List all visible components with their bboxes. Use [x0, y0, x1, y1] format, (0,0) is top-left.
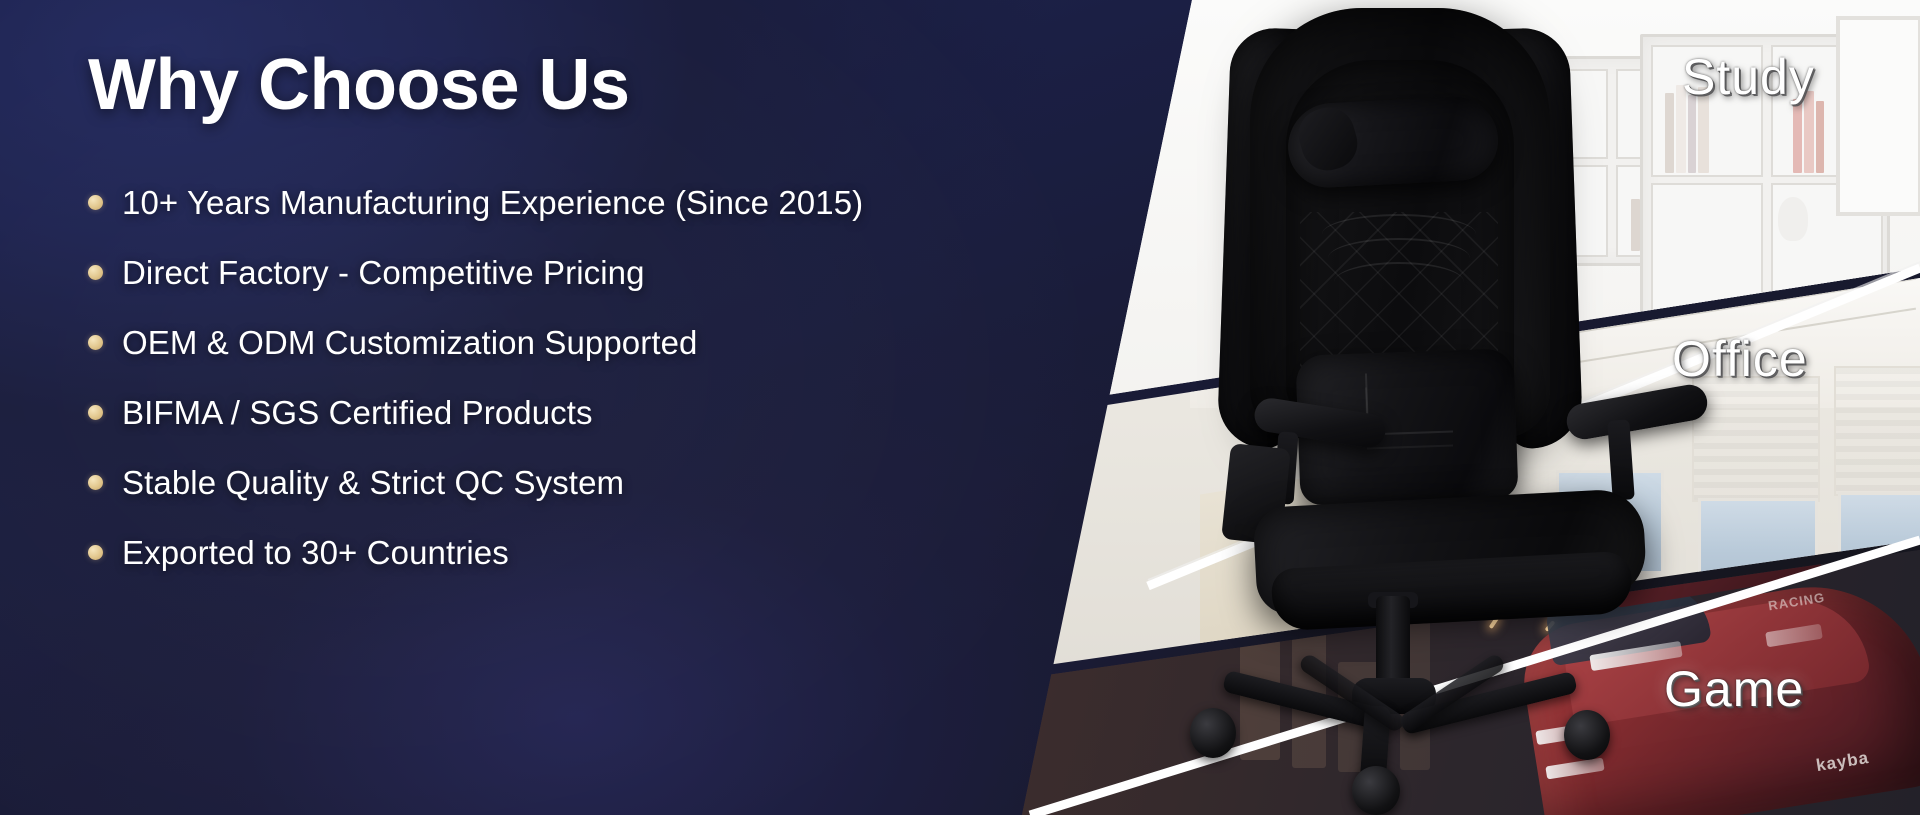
bullet-dot-icon	[88, 335, 103, 350]
chair-gas-lift	[1376, 596, 1410, 688]
scene-label-game: Game	[1664, 660, 1804, 718]
list-item-label: OEM & ODM Customization Supported	[122, 324, 698, 362]
bullet-dot-icon	[88, 405, 103, 420]
bullet-dot-icon	[88, 195, 103, 210]
bullet-dot-icon	[88, 265, 103, 280]
list-item: Direct Factory - Competitive Pricing	[88, 252, 1098, 294]
list-item-label: Exported to 30+ Countries	[122, 534, 509, 572]
page-title: Why Choose Us	[88, 48, 1098, 124]
scene-label-study: Study	[1682, 48, 1815, 106]
list-item-label: 10+ Years Manufacturing Experience (Sinc…	[122, 184, 863, 222]
chair-armrest-post-right	[1607, 419, 1635, 500]
bullet-dot-icon	[88, 475, 103, 490]
chair-caster-wheel	[1352, 766, 1400, 815]
list-item-label: BIFMA / SGS Certified Products	[122, 394, 593, 432]
chair-armrest-right	[1564, 382, 1710, 442]
bullet-dot-icon	[88, 545, 103, 560]
chair-caster-wheel	[1190, 708, 1236, 758]
list-item: Stable Quality & Strict QC System	[88, 462, 1098, 504]
banner-copy: Why Choose Us 10+ Years Manufacturing Ex…	[88, 48, 1098, 602]
list-item-label: Stable Quality & Strict QC System	[122, 464, 624, 502]
scene-label-office: Office	[1672, 330, 1808, 388]
list-item-label: Direct Factory - Competitive Pricing	[122, 254, 645, 292]
list-item: BIFMA / SGS Certified Products	[88, 392, 1098, 434]
chair-caster-wheel	[1564, 710, 1610, 760]
list-item: Exported to 30+ Countries	[88, 532, 1098, 574]
benefits-list: 10+ Years Manufacturing Experience (Sinc…	[88, 182, 1098, 574]
why-choose-us-banner: kayba RACING	[0, 0, 1920, 815]
list-item: OEM & ODM Customization Supported	[88, 322, 1098, 364]
list-item: 10+ Years Manufacturing Experience (Sinc…	[88, 182, 1098, 224]
